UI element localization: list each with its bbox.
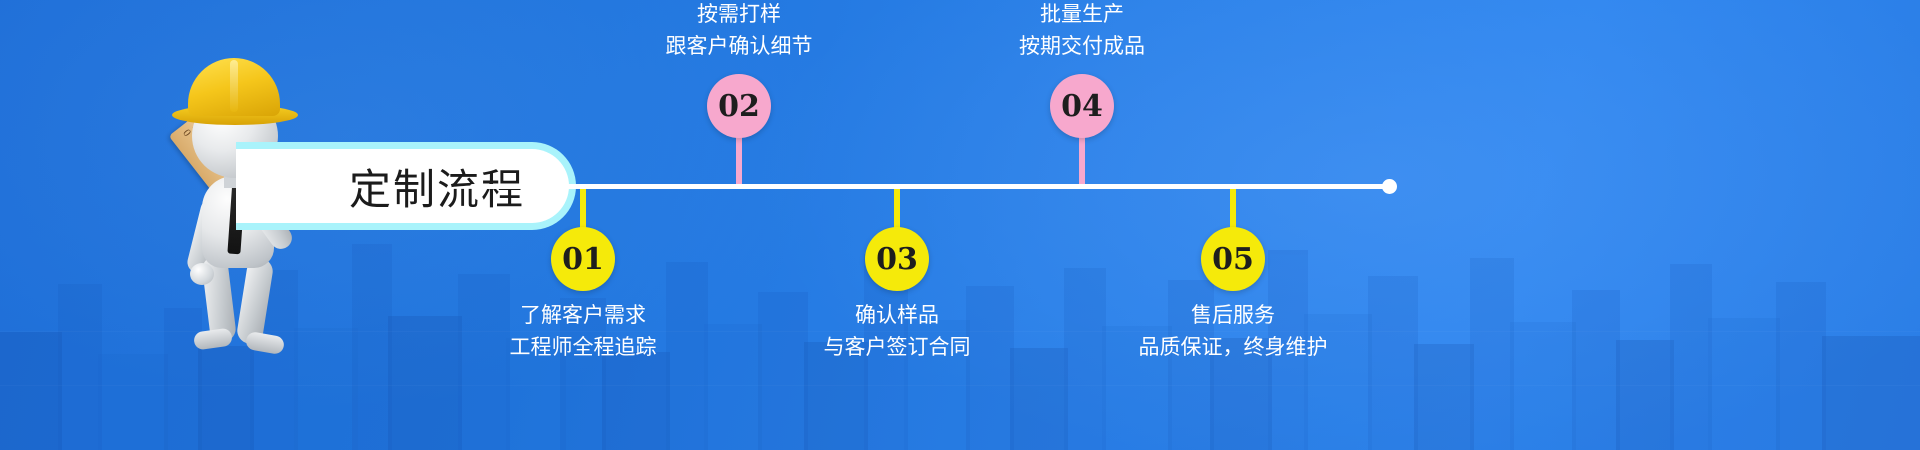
timeline-step-caption: 确认样品与客户签订合同	[824, 299, 971, 363]
timeline-step-caption-line1: 了解客户需求	[510, 299, 657, 331]
timeline-step-badge[interactable]: 04	[1050, 74, 1114, 138]
timeline-step-stem	[1079, 132, 1085, 184]
timeline-step-caption: 了解客户需求工程师全程追踪	[510, 299, 657, 363]
timeline-step-badge[interactable]: 05	[1201, 227, 1265, 291]
timeline-line	[470, 184, 1390, 189]
timeline-step-caption: 批量生产按期交付成品	[1019, 0, 1145, 62]
timeline-step-caption: 售后服务品质保证，终身维护	[1139, 299, 1328, 363]
timeline-step-caption-line1: 批量生产	[1019, 0, 1145, 30]
timeline-step-badge[interactable]: 01	[551, 227, 615, 291]
timeline-step-caption-line2: 品质保证，终身维护	[1139, 331, 1328, 363]
timeline-step-badge[interactable]: 02	[707, 74, 771, 138]
timeline-step-caption-line2: 与客户签订合同	[824, 331, 971, 363]
timeline-end-dot	[1382, 179, 1397, 194]
timeline-step-caption-line2: 跟客户确认细节	[666, 30, 813, 62]
timeline-step-caption-line1: 售后服务	[1139, 299, 1328, 331]
timeline-step-caption-line1: 确认样品	[824, 299, 971, 331]
timeline-step-badge[interactable]: 03	[865, 227, 929, 291]
timeline-step-caption-line1: 按需打样	[666, 0, 813, 30]
timeline-step-caption: 按需打样跟客户确认细节	[666, 0, 813, 62]
mascot-hand-lower	[190, 263, 214, 285]
hard-hat-rib	[230, 60, 238, 112]
timeline-step-caption-line2: 工程师全程追踪	[510, 331, 657, 363]
timeline-step-stem	[736, 132, 742, 184]
timeline-step-caption-line2: 按期交付成品	[1019, 30, 1145, 62]
custom-process-banner: 02 46 定制流程 01了解客户需求工程师全程追踪02按需打样跟客户确认细节0	[0, 0, 1920, 450]
